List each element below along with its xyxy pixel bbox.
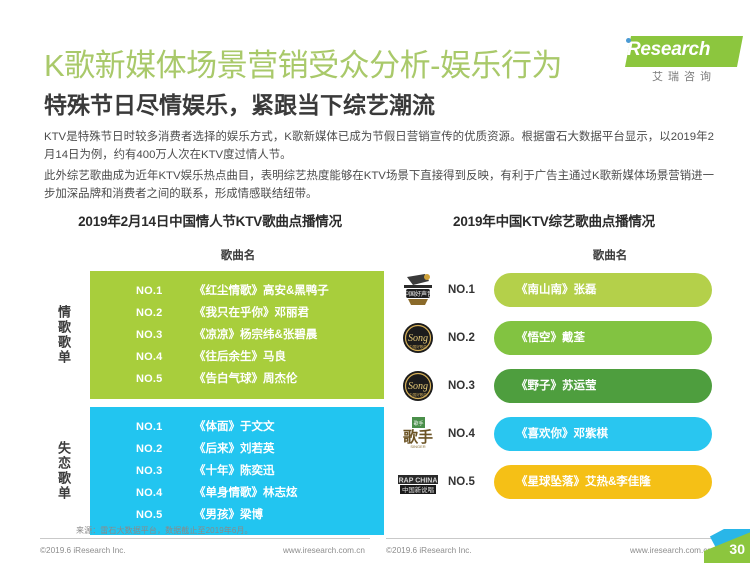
page-number-corner: 30 — [704, 529, 750, 563]
rank-label: NO.1 — [136, 280, 194, 302]
list-item: NO.3 《凉凉》杨宗纬&张碧晨 — [90, 324, 384, 346]
list-item: 歌手 歌手 SINGER NO.4 《喜欢你》邓紫棋 — [382, 413, 726, 455]
rank-label: NO.5 — [136, 504, 194, 526]
list-item: NO.2 《后来》刘若英 — [90, 438, 384, 460]
list-item: NO.1 《体面》于文文 — [90, 416, 384, 438]
svg-text:SINGER: SINGER — [410, 444, 425, 449]
footer-divider-right — [386, 538, 716, 539]
voice-of-china-logo-icon: 中国好声音 — [392, 271, 444, 309]
intro-paragraph-2: 此外综艺歌曲成为近年KTV娱乐热点曲目，表明综艺热度能够在KTV场景下直接得到反… — [44, 167, 714, 204]
rank-label: NO.3 — [444, 380, 494, 392]
love-song-group-label: 情歌歌单 — [36, 271, 90, 399]
intro-text: KTV是特殊节日时较多消费者选择的娱乐方式，K歌新媒体已成为节假日营销宣传的优质… — [44, 128, 714, 206]
song-label: 《十年》陈奕迅 — [194, 460, 275, 482]
song-pill: 《喜欢你》邓紫棋 — [494, 417, 712, 451]
song-label: 《往后余生》马良 — [194, 346, 286, 368]
left-chart-title: 2019年2月14日中国情人节KTV歌曲点播情况 — [36, 204, 384, 230]
right-column-header: 歌曲名 — [382, 247, 726, 263]
list-item: RAP CHINA 中国新说唱 NO.5 《星球坠落》艾热&李佳隆 — [382, 461, 726, 503]
rank-label: NO.2 — [136, 438, 194, 460]
footer-divider-left — [40, 538, 370, 539]
breakup-song-group: 失恋歌单 NO.1 《体面》于文文 NO.2 《后来》刘若英 NO.3 《十年》… — [36, 407, 384, 535]
song-label: 《告白气球》周杰伦 — [194, 368, 298, 390]
sing-my-song-logo-icon: Song 中国好歌曲 — [392, 367, 444, 405]
svg-text:RAP CHINA: RAP CHINA — [399, 478, 438, 485]
love-song-list: NO.1 《红尘情歌》高安&黑鸭子 NO.2 《我只在乎你》邓丽君 NO.3 《… — [90, 271, 384, 399]
iresearch-logo: iResearch 艾瑞咨询 — [614, 36, 742, 86]
song-label: 《后来》刘若英 — [194, 438, 275, 460]
singer-logo-icon: 歌手 歌手 SINGER — [392, 415, 444, 453]
rank-label: NO.1 — [136, 416, 194, 438]
list-item: NO.1 《红尘情歌》高安&黑鸭子 — [90, 280, 384, 302]
page-title: K歌新媒体场景营销受众分析-娱乐行为 — [44, 40, 562, 85]
logo-chinese-name: 艾瑞咨询 — [630, 68, 738, 84]
rank-label: NO.2 — [444, 332, 494, 344]
rank-label: NO.4 — [136, 482, 194, 504]
list-item: Song 中国好歌曲 NO.3 《野子》苏运莹 — [382, 365, 726, 407]
rank-label: NO.2 — [136, 302, 194, 324]
svg-text:歌手: 歌手 — [413, 420, 423, 427]
svg-text:中国好声音: 中国好声音 — [403, 290, 433, 298]
list-item: NO.5 《男孩》梁博 — [90, 504, 384, 526]
sing-my-song-logo-icon: Song 中国好歌曲 — [392, 319, 444, 357]
svg-text:中国好歌曲: 中国好歌曲 — [409, 344, 427, 349]
rank-label: NO.4 — [444, 428, 494, 440]
song-label: 《单身情歌》林志炫 — [194, 482, 298, 504]
svg-text:Song: Song — [408, 381, 428, 392]
right-chart-title: 2019年中国KTV综艺歌曲点播情况 — [382, 204, 726, 230]
page-number: 30 — [729, 541, 745, 557]
list-item: NO.2 《我只在乎你》邓丽君 — [90, 302, 384, 324]
song-label: 《我只在乎你》邓丽君 — [194, 302, 309, 324]
song-pill: 《南山南》张磊 — [494, 273, 712, 307]
song-label: 《体面》于文文 — [194, 416, 275, 438]
rank-label: NO.5 — [444, 476, 494, 488]
intro-paragraph-1: KTV是特殊节日时较多消费者选择的娱乐方式，K歌新媒体已成为节假日营销宣传的优质… — [44, 128, 714, 165]
rank-label: NO.4 — [136, 346, 194, 368]
breakup-song-group-label-text: 失恋歌单 — [55, 441, 71, 501]
list-item: NO.3 《十年》陈奕迅 — [90, 460, 384, 482]
breakup-song-list: NO.1 《体面》于文文 NO.2 《后来》刘若英 NO.3 《十年》陈奕迅 N… — [90, 407, 384, 535]
list-item: NO.4 《往后余生》马良 — [90, 346, 384, 368]
breakup-song-group-label: 失恋歌单 — [36, 407, 90, 535]
page-header: K歌新媒体场景营销受众分析-娱乐行为 特殊节日尽情娱乐，紧跟当下综艺潮流 iRe… — [0, 0, 750, 122]
rap-of-china-logo-icon: RAP CHINA 中国新说唱 — [392, 463, 444, 501]
song-pill: 《星球坠落》艾热&李佳隆 — [494, 465, 712, 499]
rank-label: NO.1 — [444, 284, 494, 296]
right-chart-panel: 2019年中国KTV综艺歌曲点播情况 歌曲名 中国好声音 NO.1 《南山南》张… — [382, 204, 726, 536]
rank-label: NO.5 — [136, 368, 194, 390]
song-label: 《红尘情歌》高安&黑鸭子 — [194, 280, 329, 302]
copyright-right: ©2019.6 iResearch Inc. — [386, 546, 472, 555]
left-chart-panel: 2019年2月14日中国情人节KTV歌曲点播情况 歌曲名 情歌歌单 NO.1 《… — [36, 204, 384, 536]
left-column-header: 歌曲名 — [36, 247, 384, 263]
svg-text:Song: Song — [408, 333, 428, 344]
list-item: 中国好声音 NO.1 《南山南》张磊 — [382, 269, 726, 311]
song-pill: 《野子》苏运莹 — [494, 369, 712, 403]
love-song-group: 情歌歌单 NO.1 《红尘情歌》高安&黑鸭子 NO.2 《我只在乎你》邓丽君 N… — [36, 271, 384, 399]
page-subtitle: 特殊节日尽情娱乐，紧跟当下综艺潮流 — [44, 86, 435, 120]
list-item: Song 中国好歌曲 NO.2 《悟空》戴荃 — [382, 317, 726, 359]
svg-text:中国新说唱: 中国新说唱 — [402, 485, 434, 494]
website-url-left[interactable]: www.iresearch.com.cn — [283, 546, 365, 555]
svg-text:中国好歌曲: 中国好歌曲 — [409, 392, 427, 397]
song-pill: 《悟空》戴荃 — [494, 321, 712, 355]
logo-dot-icon — [626, 38, 631, 43]
rank-label: NO.3 — [136, 324, 194, 346]
website-url-right[interactable]: www.iresearch.com.cn — [630, 546, 712, 555]
rank-label: NO.3 — [136, 460, 194, 482]
song-label: 《男孩》梁博 — [194, 504, 263, 526]
logo-wordmark: iResearch — [622, 39, 742, 61]
charts-area: 2019年2月14日中国情人节KTV歌曲点播情况 歌曲名 情歌歌单 NO.1 《… — [0, 204, 750, 536]
page-footer: ©2019.6 iResearch Inc. www.iresearch.com… — [0, 535, 750, 563]
list-item: NO.5 《告白气球》周杰伦 — [90, 368, 384, 390]
copyright-left: ©2019.6 iResearch Inc. — [40, 546, 126, 555]
song-label: 《凉凉》杨宗纬&张碧晨 — [194, 324, 317, 346]
list-item: NO.4 《单身情歌》林志炫 — [90, 482, 384, 504]
love-song-group-label-text: 情歌歌单 — [55, 305, 71, 365]
